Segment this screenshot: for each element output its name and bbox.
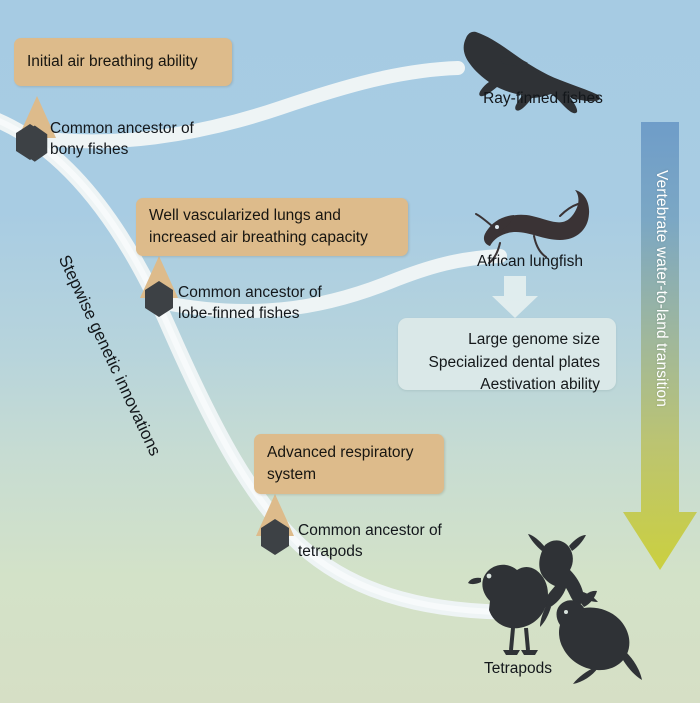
innovation-box-advanced-respiratory[interactable]: Advanced respiratory system — [254, 434, 444, 494]
taxon-label-tetrapods: Tetrapods — [448, 660, 588, 678]
lungfish-trait-line: Aestivation ability — [414, 374, 600, 397]
innovation-box-text: Well vascularized lungs and increased ai… — [149, 205, 395, 249]
taxon-label-ray-finned-fishes: Ray-finned fishes — [448, 90, 638, 108]
lungfish-trait-line: Specialized dental plates — [414, 352, 600, 375]
node-label-bony-fishes: Common ancestor of bony fishes — [50, 119, 194, 161]
lungfish-traits-box[interactable]: Large genome size Specialized dental pla… — [398, 318, 616, 390]
innovation-box-text: Advanced respiratory system — [267, 442, 431, 486]
transition-arrow-label: Vertebrate water-to-land transition — [652, 170, 670, 407]
taxon-label-african-lungfish: African lungfish — [450, 253, 610, 271]
lungfish-down-arrow — [492, 276, 538, 318]
figure-canvas: Initial air breathing ability Well vascu… — [0, 0, 700, 703]
lungfish-trait-line: Large genome size — [414, 329, 600, 352]
node-label-tetrapods: Common ancestor of tetrapods — [298, 521, 442, 563]
innovation-box-well-vascularized-lungs[interactable]: Well vascularized lungs and increased ai… — [136, 198, 408, 256]
innovation-box-initial-air-breathing[interactable]: Initial air breathing ability — [14, 38, 232, 86]
innovation-box-text: Initial air breathing ability — [27, 51, 198, 73]
node-label-lobe-finned-fishes: Common ancestor of lobe-finned fishes — [178, 283, 322, 325]
